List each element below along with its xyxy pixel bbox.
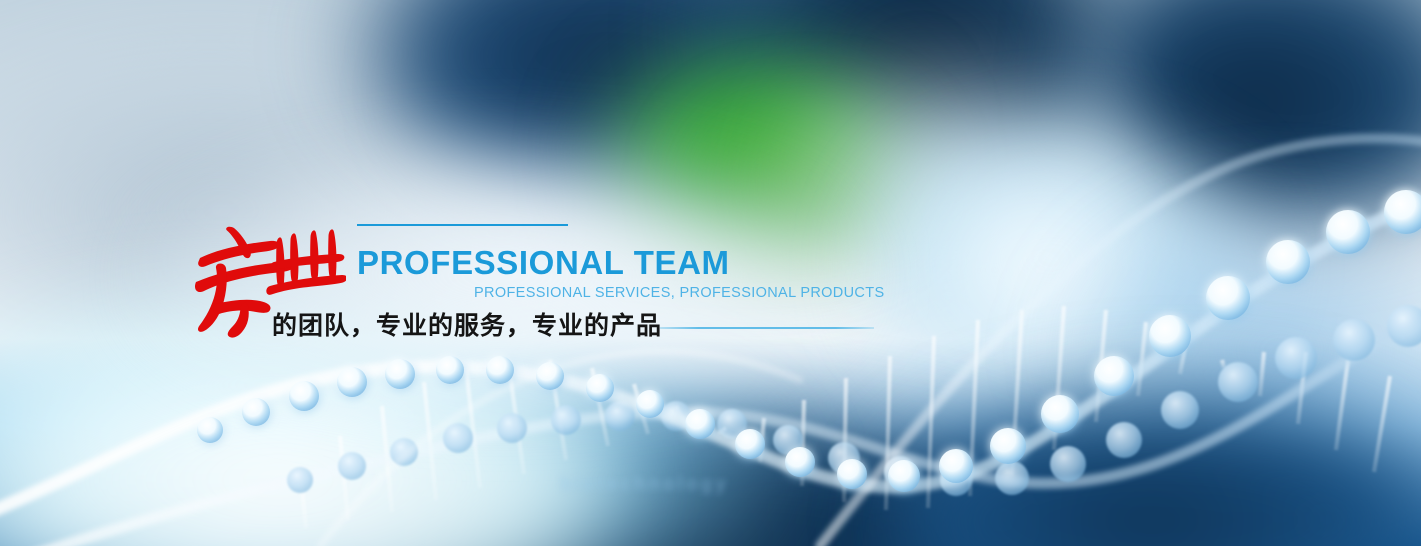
- decorative-rule-top: [357, 224, 568, 226]
- banner-subtitle-english: PROFESSIONAL SERVICES, PROFESSIONAL PROD…: [474, 285, 884, 301]
- banner-title-chinese: 的团队，专业的服务，专业的产品: [272, 306, 662, 342]
- decorative-rule-bottom: [660, 327, 874, 329]
- hero-banner: biotechnology: [0, 0, 1421, 546]
- banner-content: 专业: [0, 0, 1421, 546]
- banner-title-english: PROFESSIONAL TEAM: [357, 244, 730, 282]
